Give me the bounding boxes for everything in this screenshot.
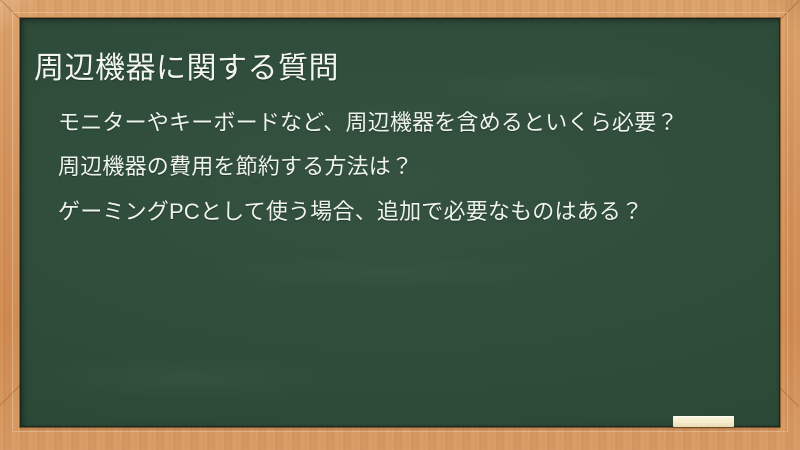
- question-list: モニターやキーボードなど、周辺機器を含めるといくら必要？ 周辺機器の費用を節約す…: [58, 108, 744, 227]
- slide-title: 周辺機器に関する質問: [34, 50, 762, 88]
- list-item: 周辺機器の費用を節約する方法は？: [58, 152, 744, 182]
- chalk-eraser-icon: [673, 416, 734, 427]
- list-item: モニターやキーボードなど、周辺機器を含めるといくら必要？: [58, 108, 744, 138]
- chalkboard-slide: 周辺機器に関する質問 モニターやキーボードなど、周辺機器を含めるといくら必要？ …: [0, 0, 800, 450]
- chalkboard-surface: 周辺機器に関する質問 モニターやキーボードなど、周辺機器を含めるといくら必要？ …: [20, 18, 780, 427]
- list-item: ゲーミングPCとして使う場合、追加で必要なものはある？: [58, 197, 744, 227]
- board-ledge-shadow: [20, 427, 780, 431]
